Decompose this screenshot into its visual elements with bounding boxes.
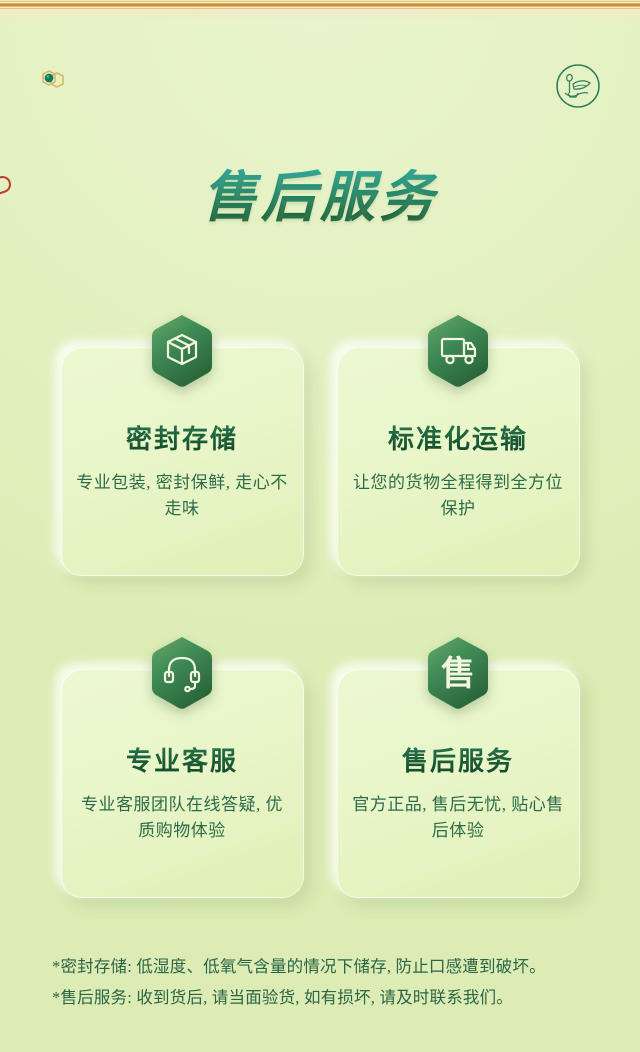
delivery-truck-icon [424,313,492,389]
card-description: 官方正品, 售后无忧, 贴心售后体验 [351,792,565,845]
note-line-sealed-storage: *密封存储: 低湿度、低氧气含量的情况下储存, 防止口感遭到破坏。 [52,952,612,983]
top-border-fade [0,11,640,21]
feature-card-standardized-transport[interactable]: 标准化运输 让您的货物全程得到全方位保护 [336,346,580,576]
badge-char: 售 [441,655,475,693]
hexagon-gem-logo-icon [40,68,70,94]
card-title: 密封存储 [75,419,289,456]
feature-card-customer-service[interactable]: 专业客服 专业客服团队在线答疑, 优质购物体验 [60,668,304,898]
page-title-wrap: 售后服务 [0,168,640,229]
feature-card-sealed-storage[interactable]: 密封存储 专业包装, 密封保鲜, 走心不走味 [60,346,304,576]
after-sale-char-icon: 售 [424,635,492,711]
card-title: 专业客服 [75,741,289,778]
card-description: 专业客服团队在线答疑, 优质购物体验 [75,792,289,845]
card-description: 让您的货物全程得到全方位保护 [351,470,565,523]
headset-support-icon [148,635,216,711]
page-title: 售后服务 [202,168,438,229]
red-seal-dot-icon [0,174,13,195]
card-content: 密封存储 专业包装, 密封保鲜, 走心不走味 [61,419,303,523]
package-box-icon [148,313,216,389]
card-content: 售后服务 官方正品, 售后无忧, 贴心售后体验 [337,741,579,845]
card-content: 标准化运输 让您的货物全程得到全方位保护 [337,419,579,523]
card-title: 售后服务 [351,741,565,778]
feature-card-after-sale-service[interactable]: 售 售后服务 官方正品, 售后无忧, 贴心售后体验 [336,668,580,898]
circular-plant-seal-icon [554,62,602,110]
card-description: 专业包装, 密封保鲜, 走心不走味 [75,470,289,523]
card-content: 专业客服 专业客服团队在线答疑, 优质购物体验 [61,741,303,845]
note-line-after-sale: *售后服务: 收到货后, 请当面验货, 如有损坏, 请及时联系我们。 [52,983,612,1014]
feature-card-grid: 密封存储 专业包装, 密封保鲜, 走心不走味 [0,346,640,898]
top-gold-border [0,0,640,11]
card-title: 标准化运输 [351,419,565,456]
footer-notes: *密封存储: 低湿度、低氧气含量的情况下储存, 防止口感遭到破坏。 *售后服务:… [52,952,612,1013]
page-root: 售后服务 [0,0,640,1052]
